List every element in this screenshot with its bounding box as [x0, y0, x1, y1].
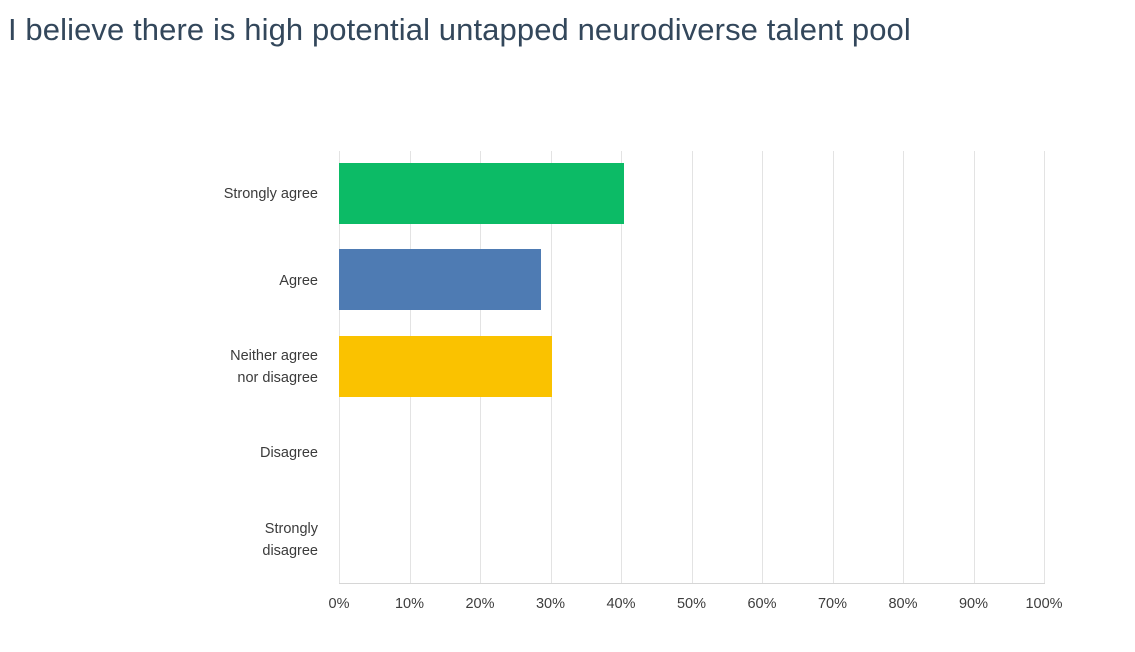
- gridline: [1044, 151, 1045, 583]
- x-axis-tick-label: 80%: [868, 594, 938, 614]
- bar-row: [339, 497, 1044, 583]
- y-axis-label-line: Neither agree: [118, 345, 318, 367]
- x-axis-tick-label: 20%: [445, 594, 515, 614]
- x-axis-tick-label: 10%: [375, 594, 445, 614]
- x-axis-tick-label: 40%: [586, 594, 656, 614]
- bar-row: [339, 324, 1044, 410]
- y-axis-label-line: Agree: [118, 270, 318, 292]
- bar[interactable]: [339, 336, 552, 397]
- y-axis-label: Disagree: [118, 442, 318, 464]
- x-axis-tick-label: 60%: [727, 594, 797, 614]
- x-axis-tick-label: 50%: [657, 594, 727, 614]
- bar-chart: Strongly agreeAgreeNeither agreenor disa…: [0, 0, 1135, 652]
- bar-row: [339, 237, 1044, 323]
- y-axis-label: Stronglydisagree: [118, 518, 318, 562]
- y-axis-label-line: Disagree: [118, 442, 318, 464]
- y-axis-label-line: disagree: [118, 540, 318, 562]
- y-axis-label-line: nor disagree: [118, 367, 318, 389]
- y-axis-label: Neither agreenor disagree: [118, 345, 318, 389]
- y-axis-label-line: Strongly agree: [118, 183, 318, 205]
- x-axis-tick-label: 100%: [1009, 594, 1079, 614]
- x-axis-line: [339, 583, 1045, 584]
- x-axis-tick-label: 0%: [304, 594, 374, 614]
- bar[interactable]: [339, 249, 541, 310]
- x-axis-tick-label: 90%: [939, 594, 1009, 614]
- bar-row: [339, 410, 1044, 496]
- plot-area: [339, 151, 1044, 583]
- y-axis-label: Agree: [118, 270, 318, 292]
- bar[interactable]: [339, 163, 624, 224]
- x-axis-tick-label: 70%: [798, 594, 868, 614]
- bar-row: [339, 151, 1044, 237]
- y-axis-label-line: Strongly: [118, 518, 318, 540]
- y-axis-label: Strongly agree: [118, 183, 318, 205]
- x-axis-tick-label: 30%: [516, 594, 586, 614]
